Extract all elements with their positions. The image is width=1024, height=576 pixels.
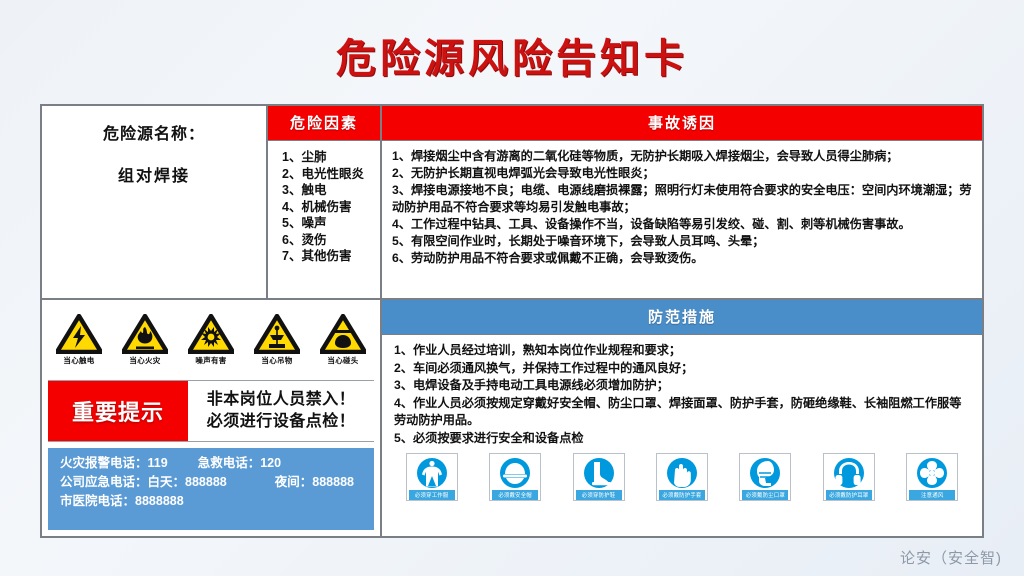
overhead-obstacle-warning-icon	[320, 314, 366, 354]
list-item: 6、烫伤	[282, 232, 380, 249]
list-item: 4、工作过程中钻具、工具、设备操作不当，设备缺陷等易引发绞、碰、割、刺等机械伤害…	[392, 216, 972, 233]
ppe-sign-label: 必须戴防护手套	[659, 490, 705, 500]
ambulance-phone-label: 急救电话：	[198, 456, 261, 470]
important-notice-tag: 重要提示	[48, 381, 188, 441]
list-item: 1、尘肺	[282, 149, 380, 166]
contact-row-fire: 火灾报警电话：119急救电话：120	[60, 454, 374, 473]
ppe-signs-row: 必须穿工作服 必须戴安全帽	[382, 447, 982, 513]
warning-sign: 当心触电	[48, 314, 110, 366]
warning-sign-label: 当心火灾	[114, 355, 176, 366]
ppe-sign-label: 必须穿工作服	[409, 490, 455, 500]
warning-sign-label: 当心触电	[48, 355, 110, 366]
ppe-sign-label: 必须戴防尘口罩	[742, 490, 788, 500]
fire-warning-icon	[122, 314, 168, 354]
list-item: 7、其他伤害	[282, 248, 380, 265]
list-item: 4、机械伤害	[282, 199, 380, 216]
ppe-sign-label: 必须戴防护耳罩	[826, 490, 872, 500]
upper-section: 危险源名称： 组对焊接 危险因素 1、尘肺 2、电光性眼炎 3、触电 4、机械伤…	[42, 106, 982, 300]
accident-causes-list: 1、焊接烟尘中含有游离的二氧化硅等物质，无防护长期吸入焊接烟尘，会导致人员得尘肺…	[382, 141, 982, 267]
safety-shoes-icon	[578, 456, 620, 490]
warning-sign-label: 当心碰头	[312, 355, 374, 366]
hazard-notice-card: 危险源名称： 组对焊接 危险因素 1、尘肺 2、电光性眼炎 3、触电 4、机械伤…	[40, 104, 984, 538]
list-item: 6、劳动防护用品不符合要求或佩戴不正确，会导致烫伤。	[392, 250, 972, 267]
notice-line-1: 非本岗位人员禁入！	[207, 389, 356, 411]
important-notice: 重要提示 非本岗位人员禁入！ 必须进行设备点检！	[48, 380, 374, 442]
day-value: 888888	[185, 475, 227, 489]
contact-row-hospital: 市医院电话：8888888	[60, 492, 374, 511]
ppe-sign: 注意通风	[906, 453, 958, 501]
emergency-contact-panel: 火灾报警电话：119急救电话：120 公司应急电话：白天：888888夜间：88…	[48, 448, 374, 530]
list-item: 1、作业人员经过培训，熟知本岗位作业规程和要求；	[394, 342, 972, 360]
ppe-sign: 必须戴防护手套	[656, 453, 708, 501]
measures-header: 防范措施	[382, 300, 982, 335]
electric-shock-warning-icon	[56, 314, 102, 354]
list-item: 5、有限空间作业时，长期处于噪音环境下，会导致人员耳鸣、头晕；	[392, 233, 972, 250]
list-item: 3、电焊设备及手持电动工具电源线必须增加防护；	[394, 377, 972, 395]
risk-factors-header: 危险因素	[268, 106, 380, 141]
hazard-name-cell: 危险源名称： 组对焊接	[42, 106, 268, 298]
work-clothes-icon	[411, 456, 453, 490]
risk-factors-list: 1、尘肺 2、电光性眼炎 3、触电 4、机械伤害 5、噪声 6、烫伤 7、其他伤…	[268, 141, 380, 265]
safety-gloves-icon	[661, 456, 703, 490]
warning-sign: 噪声有害	[180, 314, 242, 366]
warning-sign: 当心碰头	[312, 314, 374, 366]
warning-sign-label: 噪声有害	[180, 355, 242, 366]
night-label: 夜间：	[275, 475, 313, 489]
night-value: 888888	[312, 475, 354, 489]
ear-protection-icon	[828, 456, 870, 490]
hazard-name-label: 危险源名称：	[52, 120, 256, 144]
lower-section: 当心触电 当心火灾	[42, 300, 982, 536]
hospital-phone-label: 市医院电话：	[60, 494, 135, 508]
list-item: 1、焊接烟尘中含有游离的二氧化硅等物质，无防护长期吸入焊接烟尘，会导致人员得尘肺…	[392, 148, 972, 165]
notice-line-2: 必须进行设备点检！	[207, 411, 356, 433]
ambulance-phone-value: 120	[260, 456, 281, 470]
ppe-sign: 必须穿防护鞋	[573, 453, 625, 501]
ppe-sign-label: 注意通风	[909, 490, 955, 500]
measures-column: 防范措施 1、作业人员经过培训，熟知本岗位作业规程和要求； 2、车间必须通风换气…	[382, 300, 982, 536]
warning-sign: 当心吊物	[246, 314, 308, 366]
list-item: 5、噪声	[282, 215, 380, 232]
measures-list: 1、作业人员经过培训，熟知本岗位作业规程和要求； 2、车间必须通风换气，并保持工…	[382, 335, 982, 447]
fire-phone-value: 119	[148, 456, 168, 470]
list-item: 3、焊接电源接地不良；电缆、电源线磨损裸露；照明行灯未使用符合要求的安全电压：空…	[392, 182, 972, 215]
list-item: 4、作业人员必须按规定穿戴好安全帽、防尘口罩、焊接面罩、防护手套，防砸绝缘鞋、长…	[394, 395, 972, 430]
ventilation-icon	[911, 456, 953, 490]
company-phone-label: 公司应急电话：	[60, 475, 148, 489]
list-item: 2、电光性眼炎	[282, 166, 380, 183]
accident-causes-column: 事故诱因 1、焊接烟尘中含有游离的二氧化硅等物质，无防护长期吸入焊接烟尘，会导致…	[382, 106, 982, 298]
important-notice-text: 非本岗位人员禁入！ 必须进行设备点检！	[188, 381, 374, 441]
ppe-sign: 必须戴防尘口罩	[739, 453, 791, 501]
ppe-sign-label: 必须穿防护鞋	[576, 490, 622, 500]
risk-factors-column: 危险因素 1、尘肺 2、电光性眼炎 3、触电 4、机械伤害 5、噪声 6、烫伤 …	[268, 106, 382, 298]
ppe-sign: 必须戴防护耳罩	[823, 453, 875, 501]
ppe-sign-label: 必须戴安全帽	[492, 490, 538, 500]
contact-row-company: 公司应急电话：白天：888888夜间：888888	[60, 473, 374, 492]
accident-causes-header: 事故诱因	[382, 106, 982, 141]
list-item: 2、车间必须通风换气，并保持工作过程中的通风良好；	[394, 360, 972, 378]
ppe-sign: 必须戴安全帽	[489, 453, 541, 501]
safety-helmet-icon	[494, 456, 536, 490]
day-label: 白天：	[148, 475, 186, 489]
warning-sign: 当心火灾	[114, 314, 176, 366]
fire-phone-label: 火灾报警电话：	[60, 456, 148, 470]
suspended-load-warning-icon	[254, 314, 300, 354]
page-title: 危险源风险告知卡	[0, 26, 1024, 84]
noise-warning-icon	[188, 314, 234, 354]
watermark: 论安（安全智)	[900, 547, 1002, 568]
list-item: 3、触电	[282, 182, 380, 199]
list-item: 2、无防护长期直视电焊弧光会导致电光性眼炎；	[392, 165, 972, 182]
ppe-sign: 必须穿工作服	[406, 453, 458, 501]
dust-mask-icon	[744, 456, 786, 490]
hospital-phone-value: 8888888	[135, 494, 184, 508]
warning-sign-label: 当心吊物	[246, 355, 308, 366]
list-item: 5、必须按要求进行安全和设备点检	[394, 430, 972, 448]
warning-and-contact-column: 当心触电 当心火灾	[42, 300, 382, 536]
hazard-name-value: 组对焊接	[52, 162, 256, 186]
warning-signs-row: 当心触电 当心火灾	[42, 300, 380, 376]
